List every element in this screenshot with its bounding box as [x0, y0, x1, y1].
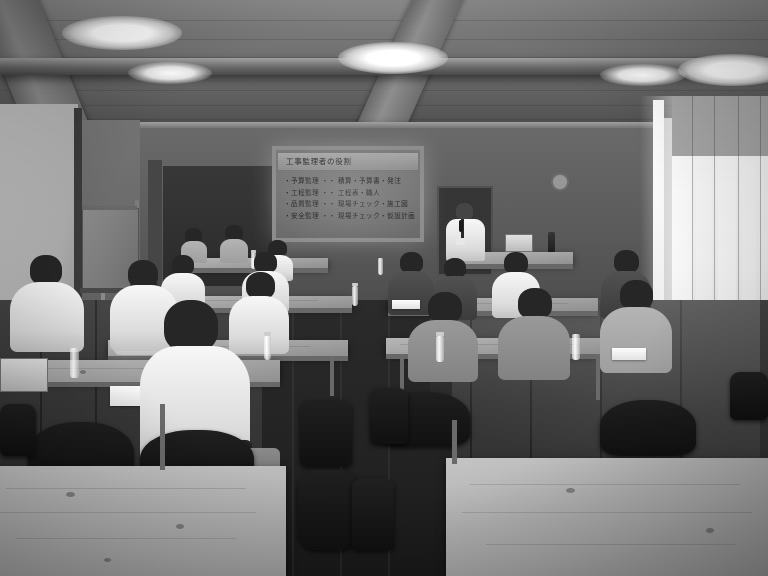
ceiling-light: [62, 16, 182, 50]
shoulder-bag: [352, 478, 394, 550]
wooden-desk: [0, 466, 286, 576]
dark-bottle: [548, 232, 555, 252]
desk-leg: [452, 420, 457, 464]
water-bottle: [264, 336, 271, 360]
shoulder-bag: [370, 388, 408, 444]
water-bottle: [378, 258, 383, 275]
water-bottle: [572, 334, 580, 360]
office-chair: [298, 470, 358, 550]
handout-paper: [392, 300, 420, 309]
seminar-room-photograph: 工事監理者の役割 ・予算監理 ・・ 積算・予算書・発注 ・工程監理 ・・ 工程表…: [0, 0, 768, 576]
shoulder-bag: [300, 400, 352, 466]
microphone: [459, 220, 463, 232]
ceiling-light: [128, 62, 212, 84]
wall-clock: [551, 173, 569, 191]
laptop: [0, 358, 48, 392]
projector-haze: [262, 138, 436, 250]
water-bottle: [436, 336, 444, 362]
bottle-cap: [70, 343, 79, 348]
name-badge: [456, 238, 465, 245]
ceiling-light: [338, 42, 448, 74]
ceiling-light: [600, 64, 686, 86]
desk-leg: [330, 356, 334, 396]
bottle-cap: [264, 332, 271, 336]
water-bottle: [352, 286, 358, 306]
wooden-desk: [446, 458, 768, 576]
handout-paper: [612, 348, 646, 360]
blind-shadow: [672, 96, 768, 156]
water-bottle: [70, 348, 79, 378]
shoulder-bag: [730, 372, 768, 420]
bottle-cap: [352, 283, 358, 286]
bottle-cap: [436, 332, 444, 336]
laptop: [505, 234, 533, 252]
shoulder-bag: [0, 404, 36, 456]
bottle-cap: [251, 250, 256, 253]
desk-leg: [160, 404, 165, 470]
office-chair: [600, 400, 696, 456]
whiteboard-top-rail: [82, 206, 137, 210]
